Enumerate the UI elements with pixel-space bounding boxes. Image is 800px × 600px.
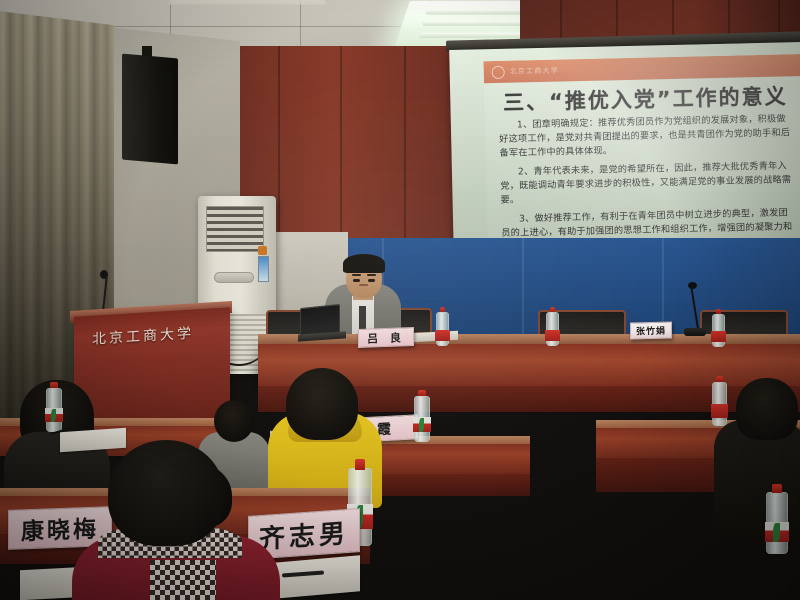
nameplate-head-table-right: 张竹娟 [630,321,672,339]
audience-person-right-hair [736,378,798,440]
audience-person-gray-head [214,400,254,442]
university-logo-icon [492,65,505,78]
slide-title: 三、“推优入党”工作的意义 [484,80,800,117]
nameplate-speaker: 吕 良 [358,327,414,348]
foreground-person-shirt [150,560,216,600]
lecture-hall-photo: 北京工商大学 三、“推优入党”工作的意义 1、团章明确规定：推荐优秀团员作为党组… [0,0,800,600]
ceiling-loudspeaker-icon [122,54,178,165]
audience-person-yellow-hair [286,368,358,440]
air-conditioner-brand-badge [214,272,254,283]
slide-paragraph: 2、青年代表未来，是党的希望所在，因此，推荐大批优秀青年入党，既能调动青年要求进… [500,159,797,208]
air-conditioner-vent-icon [206,206,264,252]
water-bottle [414,396,430,442]
slide-logo-label: 北京工商大学 [510,66,559,77]
air-conditioner-sticker [258,246,267,255]
slide-paragraph: 1、团章明确规定：推荐优秀团员作为党组织的发展对象，积极做好这项工作，是党对共青… [499,112,796,161]
table-microphone-base [684,328,706,336]
speaker-hair [343,254,385,273]
ceiling-light-panel-secondary [168,0,325,5]
slide-header-bar: 北京工商大学 [483,54,800,83]
speaker-mouth [359,284,368,286]
water-bottle [712,314,725,347]
water-bottle [46,388,62,432]
water-bottle [766,492,788,554]
foreground-person-head [108,440,224,546]
energy-label-sticker [258,256,269,282]
water-bottle [546,312,559,346]
water-bottle [712,382,727,426]
water-bottle [436,312,449,346]
